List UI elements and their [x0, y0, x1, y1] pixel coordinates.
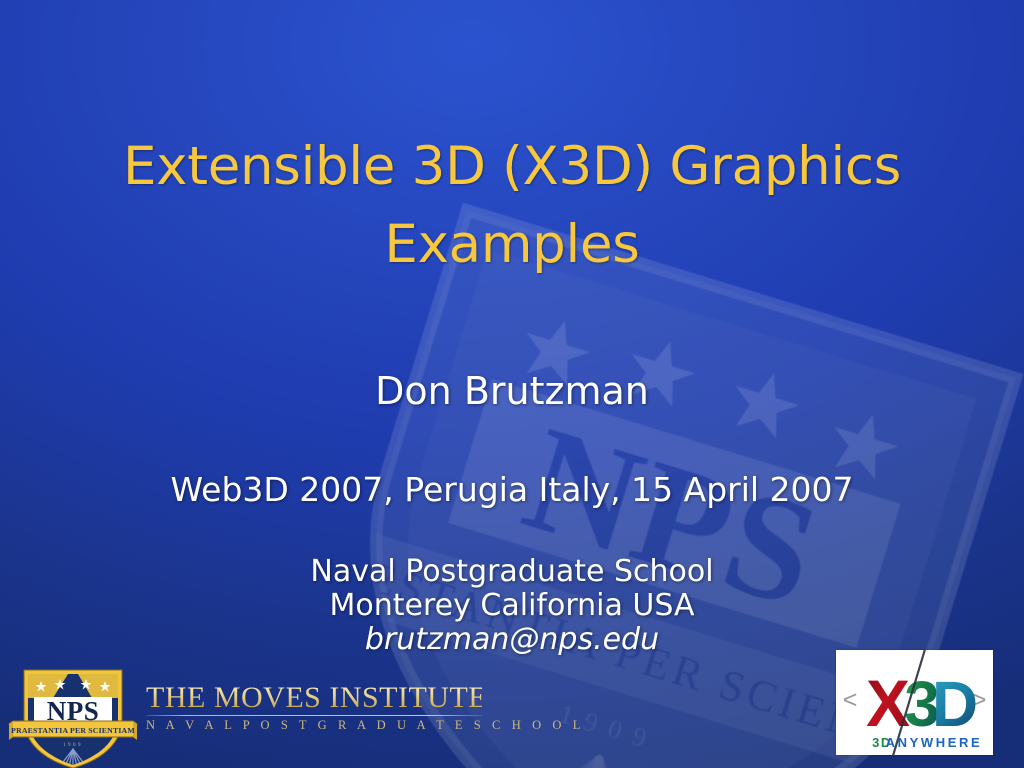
nps-shield-logo: NPS 1909 PRAESTANTIA PER SCIENTIAM	[8, 662, 138, 768]
moves-divider	[146, 715, 482, 716]
svg-text:1909: 1909	[556, 699, 662, 756]
moves-institute-logo: THE MOVES INSTITUTE N A V A L P O S T G …	[146, 682, 482, 734]
slide-title: Extensible 3D (X3D) Graphics Examples	[0, 128, 1024, 284]
venue-and-date: Web3D 2007, Perugia Italy, 15 April 2007	[0, 470, 1024, 510]
affiliation-line-1: Naval Postgraduate School	[0, 555, 1024, 589]
x3d-left-bracket: <	[843, 686, 858, 714]
affiliation-block: Naval Postgraduate School Monterey Calif…	[0, 555, 1024, 657]
moves-title: THE MOVES INSTITUTE	[146, 682, 482, 714]
affiliation-line-2: Monterey California USA	[0, 589, 1024, 623]
x3d-tagline-anywhere: ANYWHERE	[886, 735, 983, 750]
title-line-2: Examples	[0, 206, 1024, 284]
slide-canvas: NPS PRAESTANTIA PER SCIENTIAM 1909	[0, 0, 1024, 768]
svg-text:1909: 1909	[63, 743, 83, 748]
x3d-logo[interactable]: < > X 3 D 3D ANYWHERE	[836, 650, 993, 755]
x3d-letter-d: D	[932, 668, 978, 740]
title-line-1: Extensible 3D (X3D) Graphics	[0, 128, 1024, 206]
nps-motto-text: PRAESTANTIA PER SCIENTIAM	[11, 726, 135, 735]
presenter-name: Don Brutzman	[0, 368, 1024, 414]
moves-subtitle: N A V A L P O S T G R A D U A T E S C H …	[146, 718, 482, 733]
